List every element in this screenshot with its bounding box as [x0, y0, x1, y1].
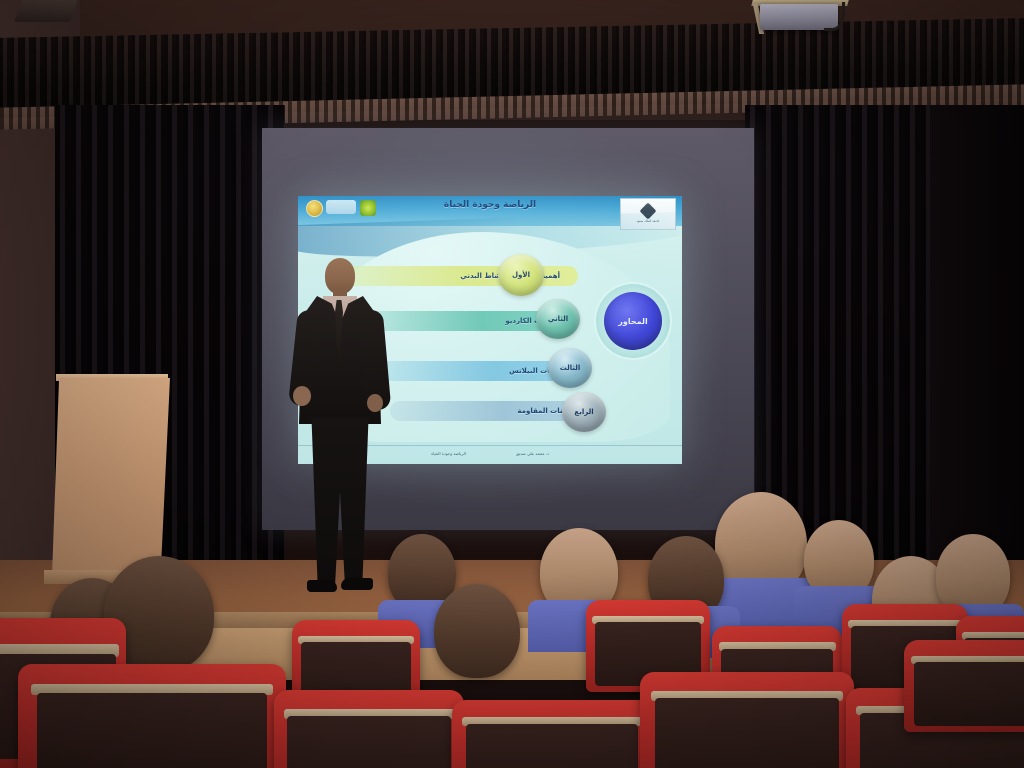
presenter-left-shoe	[307, 580, 337, 592]
presenter	[283, 258, 395, 613]
slide-bubble-4: الرابع	[562, 392, 606, 432]
presenter-head	[325, 258, 355, 294]
seat-back	[914, 662, 1024, 726]
seat	[640, 672, 854, 768]
seat-back	[655, 698, 839, 768]
seat-back	[466, 724, 638, 768]
slide-footer-left: الرياضة وجودة الحياة	[431, 451, 466, 456]
audience-head	[434, 584, 520, 678]
seat	[904, 640, 1024, 732]
slide-footer-right: د. محمد علي صديق	[516, 451, 549, 456]
presenter-legs	[309, 418, 371, 586]
presenter-left-hand	[293, 386, 311, 406]
slide-bubble-1: الأول	[498, 254, 544, 296]
presenter-right-hand	[367, 394, 383, 412]
seat-back	[287, 716, 450, 768]
ceiling-bracket-left	[14, 0, 78, 22]
podium	[52, 378, 170, 576]
slide-hub-ring: المحاور	[594, 282, 672, 360]
auditorium-photo: الرياضة وجودة الحياة جامعة الملك سعود أه…	[0, 0, 1024, 768]
seat-back	[37, 693, 267, 768]
seat	[452, 700, 652, 768]
slide-bubble-3: الثالث	[548, 348, 592, 388]
seat	[18, 664, 286, 768]
seat	[274, 690, 464, 768]
presenter-right-shoe	[341, 578, 373, 590]
slide-hub-label: المحاور	[604, 292, 662, 350]
slide-bubble-2: الثاني	[536, 299, 580, 339]
